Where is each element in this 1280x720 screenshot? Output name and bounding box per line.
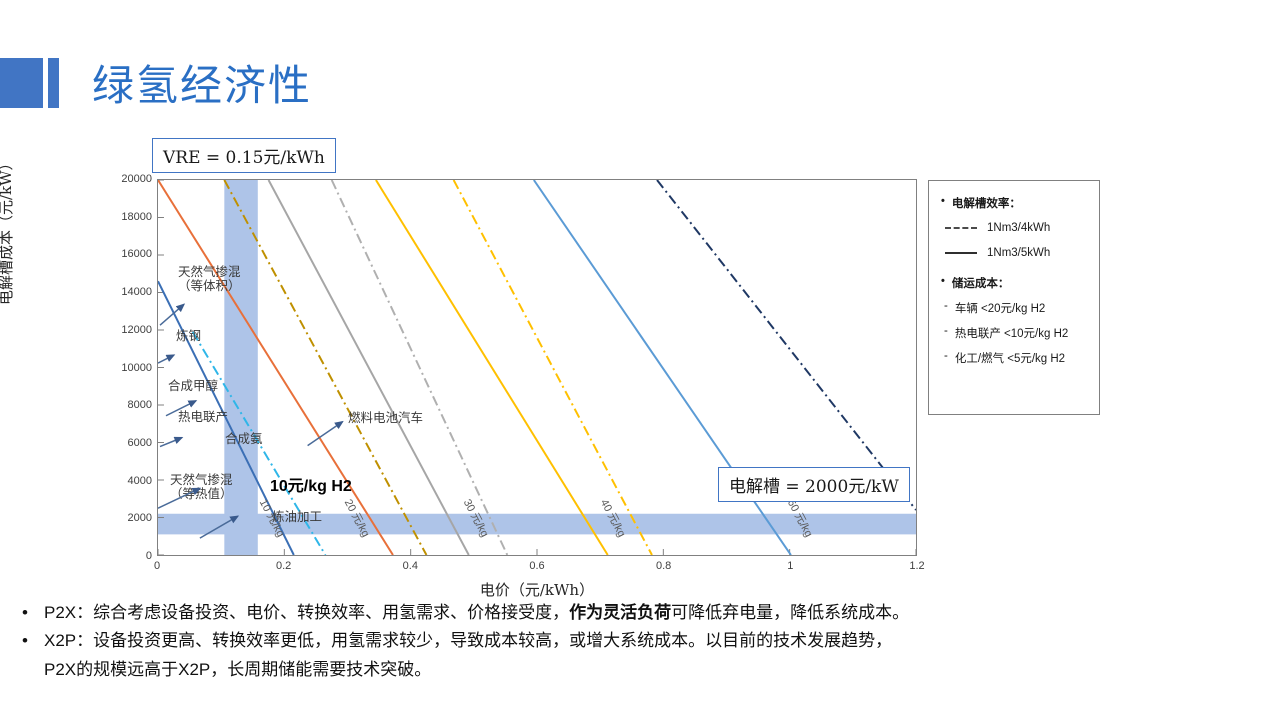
annotation-gas-blend-volume: 天然气掺混 （等体积） (178, 265, 241, 294)
y-tick-label: 20000 (100, 173, 152, 185)
annotation-chp: 热电联产 (178, 410, 228, 424)
legend-heading-storage: • 储运成本： (941, 275, 1089, 291)
page-title: 绿氢经济性 (92, 52, 312, 113)
callout-vre: VRE = 0.15元/kWh (152, 138, 336, 173)
bullet-item: •P2X：综合考虑设备投资、电价、转换效率、用氢需求、价格接受度，作为灵活负荷可… (22, 600, 1270, 626)
annotation-ammonia: 合成氨 (225, 432, 263, 446)
series-line (269, 180, 469, 555)
chart-legend: • 电解槽效率： 1Nm3/4kWh 1Nm3/5kWh • 储运成本： - 车… (928, 180, 1100, 415)
bullet-item: P2X的规模远高于X2P，长周期储能需要技术突破。 (22, 657, 1270, 683)
series-line (657, 180, 916, 510)
bullet-dot-icon: • (941, 195, 945, 207)
dash-mark-icon: - (944, 300, 948, 316)
x-tick-label: 0 (154, 560, 160, 572)
legend-item-vehicle: - 车辆 <20元/kg H2 (944, 300, 1089, 316)
x-tick-label: 0.6 (529, 560, 544, 572)
legend-item-chp: - 热电联产 <10元/kg H2 (944, 325, 1089, 341)
bullet-mark-icon: • (22, 628, 34, 654)
y-tick-label: 12000 (100, 324, 152, 336)
x-tick-label: 0.2 (276, 560, 291, 572)
dash-mark-icon: - (944, 325, 948, 341)
legend-item-4kwh: 1Nm3/4kWh (945, 222, 1089, 234)
y-tick-label: 2000 (100, 512, 152, 524)
y-tick-label: 16000 (100, 248, 152, 260)
x-axis-title: 电价（元/kWh） (157, 579, 917, 600)
y-tick-label: 10000 (100, 362, 152, 374)
annotation-steelmaking: 炼钢 (176, 329, 201, 343)
bullet-text: P2X的规模远高于X2P，长周期储能需要技术突破。 (44, 657, 431, 683)
chart-figure: 电解槽成本（元/kW） 0200040006000800010000120001… (0, 130, 1130, 595)
x-tick-label: 0.8 (656, 560, 671, 572)
x-axis-tick-labels: 00.20.40.60.811.2 (157, 560, 917, 578)
y-tick-label: 8000 (100, 399, 152, 411)
bullet-mark-icon (22, 657, 34, 683)
legend-item-5kwh: 1Nm3/5kWh (945, 247, 1089, 259)
bullet-emphasis: 作为灵活负荷 (569, 603, 671, 622)
annotation-price-10: 10元/kg H2 (270, 478, 352, 496)
y-tick-label: 4000 (100, 475, 152, 487)
bullet-item: •X2P：设备投资更高、转换效率更低，用氢需求较少，导致成本较高，或增大系统成本… (22, 628, 1270, 654)
callout-electrolyser: 电解槽 = 2000元/kW (718, 467, 910, 502)
y-tick-label: 6000 (100, 437, 152, 449)
legend-item-chemical: - 化工/燃气 <5元/kg H2 (944, 350, 1089, 366)
title-accent-bar-thin (48, 58, 59, 108)
x-tick-label: 0.4 (403, 560, 418, 572)
annotation-methanol: 合成甲醇 (168, 379, 218, 393)
y-tick-label: 18000 (100, 211, 152, 223)
y-tick-label: 14000 (100, 286, 152, 298)
annotation-gas-blend-heat: 天然气掺混 （等热值） (170, 473, 233, 502)
solid-line-icon (945, 252, 977, 254)
bullet-dot-icon: • (941, 275, 945, 287)
bullet-mark-icon: • (22, 600, 34, 626)
title-accent-bar-wide (0, 58, 43, 108)
y-tick-label: 0 (100, 550, 152, 562)
bullet-list: •P2X：综合考虑设备投资、电价、转换效率、用氢需求、价格接受度，作为灵活负荷可… (22, 600, 1270, 685)
dash-mark-icon: - (944, 350, 948, 366)
x-tick-label: 1 (787, 560, 793, 572)
bullet-text: X2P：设备投资更高、转换效率更低，用氢需求较少，导致成本较高，或增大系统成本。… (44, 628, 892, 654)
legend-heading-efficiency: • 电解槽效率： (941, 195, 1089, 211)
dash-dot-line-icon (945, 227, 977, 229)
y-axis-title: 电解槽成本（元/kW） (0, 155, 16, 305)
y-axis-tick-labels: 0200040006000800010000120001400016000180… (96, 179, 152, 556)
series-line (454, 180, 652, 555)
bullet-text: P2X：综合考虑设备投资、电价、转换效率、用氢需求、价格接受度，作为灵活负荷可降… (44, 600, 909, 626)
x-tick-label: 1.2 (909, 560, 924, 572)
annotation-fcev: 燃料电池汽车 (348, 411, 423, 425)
